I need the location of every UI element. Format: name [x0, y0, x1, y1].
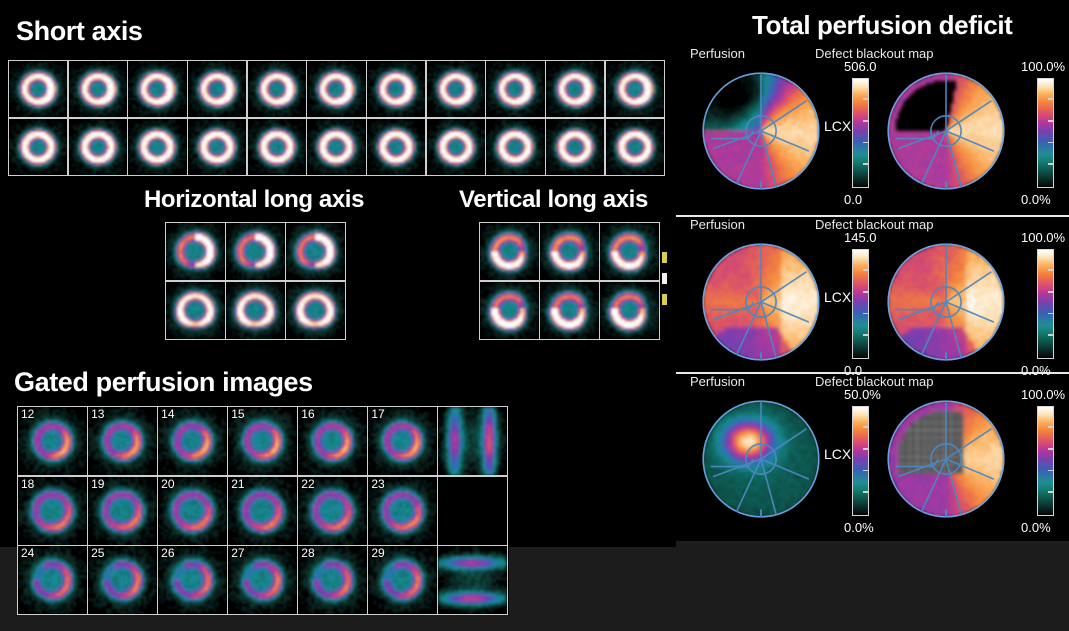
territory-label-lcx: LCX	[824, 118, 851, 134]
short-axis-grid[interactable]	[8, 60, 665, 176]
image-slice-cell[interactable]: 17	[368, 407, 437, 475]
polar-map-blackout[interactable]	[883, 68, 1009, 194]
polar-map-section-reserve: PerfusionDefect blackout mapLADRCALCX50.…	[676, 374, 1069, 541]
frame-number-label: 24	[21, 547, 34, 560]
polar-map-perfusion[interactable]	[698, 239, 824, 365]
frame-number-label: 29	[371, 547, 384, 560]
colorbar-perfusion-max: 50.0%	[844, 387, 881, 402]
image-slice-cell[interactable]	[480, 282, 539, 339]
polar-map-perfusion[interactable]	[698, 68, 824, 194]
slice-marker	[662, 252, 667, 263]
image-slice-cell[interactable]: 27	[228, 546, 297, 614]
image-slice-cell[interactable]	[248, 119, 306, 175]
image-slice-cell[interactable]: 16	[298, 407, 367, 475]
image-slice-cell[interactable]	[540, 223, 599, 280]
polar-map-section-rest: PerfusionDefect blackout mapLADRCALCX145…	[676, 217, 1069, 372]
image-slice-cell[interactable]	[286, 223, 345, 280]
image-slice-cell[interactable]	[486, 61, 544, 117]
image-slice-cell[interactable]: 23	[368, 477, 437, 545]
colorbar-defect-min: 0.0%	[1021, 520, 1051, 535]
image-slice-cell[interactable]: 20	[158, 477, 227, 545]
image-slice-cell[interactable]	[226, 223, 285, 280]
colorbar-perfusion-min: 0.0	[844, 192, 862, 207]
image-slice-cell[interactable]: 13	[88, 407, 157, 475]
perfusion-label: Perfusion	[690, 374, 745, 389]
image-slice-cell[interactable]	[367, 119, 425, 175]
frame-number-label: 22	[301, 478, 314, 491]
colorbar-perfusion[interactable]	[852, 78, 869, 188]
image-slice-cell[interactable]: 25	[88, 546, 157, 614]
image-slice-cell[interactable]: 26	[158, 546, 227, 614]
image-slice-cell[interactable]: 12	[18, 407, 87, 475]
app-root: Short axis Horizontal long axis Vertical…	[0, 0, 1069, 631]
perfusion-label: Perfusion	[690, 46, 745, 61]
image-slice-cell[interactable]	[486, 119, 544, 175]
colorbar-defect-min: 0.0%	[1021, 192, 1051, 207]
image-slice-cell[interactable]	[307, 61, 365, 117]
image-slice-cell[interactable]	[9, 119, 67, 175]
frame-number-label: 15	[231, 408, 244, 421]
image-slice-cell[interactable]: 29	[368, 546, 437, 614]
colorbar-defect[interactable]	[1037, 406, 1054, 516]
image-slice-cell[interactable]	[69, 119, 127, 175]
colorbar-perfusion[interactable]	[852, 406, 869, 516]
image-slice-cell[interactable]	[188, 61, 246, 117]
frame-number-label: 18	[21, 478, 34, 491]
polar-map-blackout[interactable]	[883, 396, 1009, 522]
gated-perfusion-grid[interactable]: 121314151617181920212223242526272829	[17, 406, 508, 615]
colorbar-perfusion-min: 0.0%	[844, 520, 874, 535]
colorbar-perfusion-max: 145.0	[844, 230, 877, 245]
slice-marker	[662, 294, 667, 305]
image-slice-cell[interactable]	[427, 61, 485, 117]
image-slice-cell[interactable]	[438, 407, 507, 475]
image-slice-cell[interactable]	[166, 223, 225, 280]
image-slice-cell[interactable]	[286, 282, 345, 339]
image-slice-cell[interactable]	[166, 282, 225, 339]
image-slice-cell[interactable]	[307, 119, 365, 175]
image-slice-cell[interactable]	[427, 119, 485, 175]
image-slice-cell[interactable]	[600, 223, 659, 280]
image-slice-cell[interactable]	[606, 119, 664, 175]
frame-number-label: 23	[371, 478, 384, 491]
frame-number-label: 19	[91, 478, 104, 491]
colorbar-defect-max: 100.0%	[1021, 59, 1065, 74]
colorbar-perfusion-max: 506.0	[844, 59, 877, 74]
image-slice-cell[interactable]	[546, 119, 604, 175]
image-slice-cell[interactable]: 15	[228, 407, 297, 475]
frame-number-label: 17	[371, 408, 384, 421]
image-slice-cell[interactable]	[546, 61, 604, 117]
horizontal-long-axis-grid[interactable]	[165, 222, 346, 340]
image-slice-cell[interactable]	[9, 61, 67, 117]
polar-map-blackout[interactable]	[883, 239, 1009, 365]
vertical-long-axis-title: Vertical long axis	[459, 186, 648, 214]
frame-number-label: 27	[231, 547, 244, 560]
vla-slice-markers	[662, 252, 668, 304]
image-slice-cell[interactable]	[438, 546, 507, 614]
image-slice-cell[interactable]: 14	[158, 407, 227, 475]
image-slice-cell[interactable]	[226, 282, 285, 339]
image-slice-cell[interactable]: 21	[228, 477, 297, 545]
frame-number-label: 21	[231, 478, 244, 491]
colorbar-perfusion[interactable]	[852, 249, 869, 359]
perfusion-label: Perfusion	[690, 217, 745, 232]
territory-label-lcx: LCX	[824, 289, 851, 305]
colorbar-defect-max: 100.0%	[1021, 230, 1065, 245]
image-slice-cell[interactable]: 19	[88, 477, 157, 545]
colorbar-defect[interactable]	[1037, 249, 1054, 359]
image-slice-cell[interactable]	[540, 282, 599, 339]
frame-number-label: 12	[21, 408, 34, 421]
colorbar-defect-max: 100.0%	[1021, 387, 1065, 402]
frame-number-label: 28	[301, 547, 314, 560]
image-slice-cell[interactable]	[69, 61, 127, 117]
image-slice-cell[interactable]	[606, 61, 664, 117]
horizontal-long-axis-title: Horizontal long axis	[144, 186, 364, 214]
image-slice-cell[interactable]	[480, 223, 539, 280]
polar-map-perfusion[interactable]	[698, 396, 824, 522]
total-perfusion-deficit-title: Total perfusion deficit	[752, 10, 1012, 41]
image-slice-cell[interactable]	[248, 61, 306, 117]
image-slice-cell[interactable]	[188, 119, 246, 175]
gated-perfusion-title: Gated perfusion images	[14, 367, 313, 398]
image-slice-cell[interactable]	[128, 61, 186, 117]
frame-number-label: 20	[161, 478, 174, 491]
image-slice-cell[interactable]: 24	[18, 546, 87, 614]
polar-map-section-stress: PerfusionDefect blackout mapLADRCALCX506…	[676, 46, 1069, 215]
frame-number-label: 16	[301, 408, 314, 421]
image-slice-cell[interactable]: 28	[298, 546, 367, 614]
frame-number-label: 26	[161, 547, 174, 560]
territory-label-lcx: LCX	[824, 446, 851, 462]
short-axis-title: Short axis	[16, 16, 143, 47]
image-cell-empty	[438, 477, 507, 545]
vertical-long-axis-grid[interactable]	[479, 222, 660, 340]
colorbar-defect[interactable]	[1037, 78, 1054, 188]
image-slice-cell[interactable]: 22	[298, 477, 367, 545]
image-slice-cell[interactable]	[128, 119, 186, 175]
frame-number-label: 13	[91, 408, 104, 421]
frame-number-label: 25	[91, 547, 104, 560]
image-slice-cell[interactable]	[367, 61, 425, 117]
image-slice-cell[interactable]: 18	[18, 477, 87, 545]
frame-number-label: 14	[161, 408, 174, 421]
slice-marker	[662, 273, 667, 284]
image-slice-cell[interactable]	[600, 282, 659, 339]
